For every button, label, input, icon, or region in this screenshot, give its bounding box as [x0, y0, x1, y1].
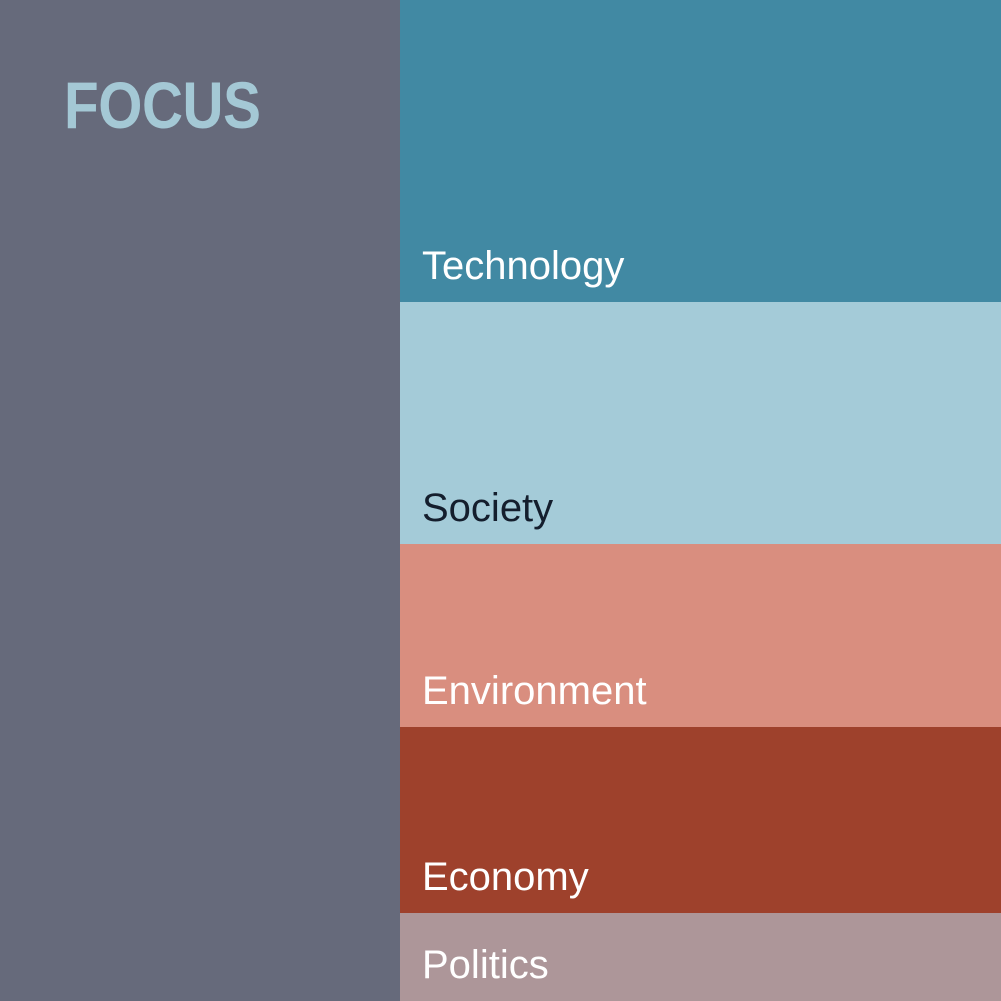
- focus-infographic: FOCUS Technology Society Environment Eco…: [0, 0, 1001, 1001]
- page-title: FOCUS: [64, 72, 261, 138]
- chart-band-economy[interactable]: Economy: [400, 727, 1001, 913]
- sidebar-panel: FOCUS: [0, 0, 400, 1001]
- chart-band-label-economy: Economy: [422, 854, 589, 900]
- chart-band-society[interactable]: Society: [400, 302, 1001, 544]
- stacked-band-chart: Technology Society Environment Economy P…: [400, 0, 1001, 1001]
- chart-band-label-technology: Technology: [422, 243, 624, 289]
- chart-band-label-environment: Environment: [422, 668, 647, 714]
- chart-band-technology[interactable]: Technology: [400, 0, 1001, 302]
- chart-band-environment[interactable]: Environment: [400, 544, 1001, 727]
- chart-band-politics[interactable]: Politics: [400, 913, 1001, 1001]
- chart-band-label-society: Society: [422, 485, 553, 531]
- chart-band-label-politics: Politics: [422, 942, 549, 988]
